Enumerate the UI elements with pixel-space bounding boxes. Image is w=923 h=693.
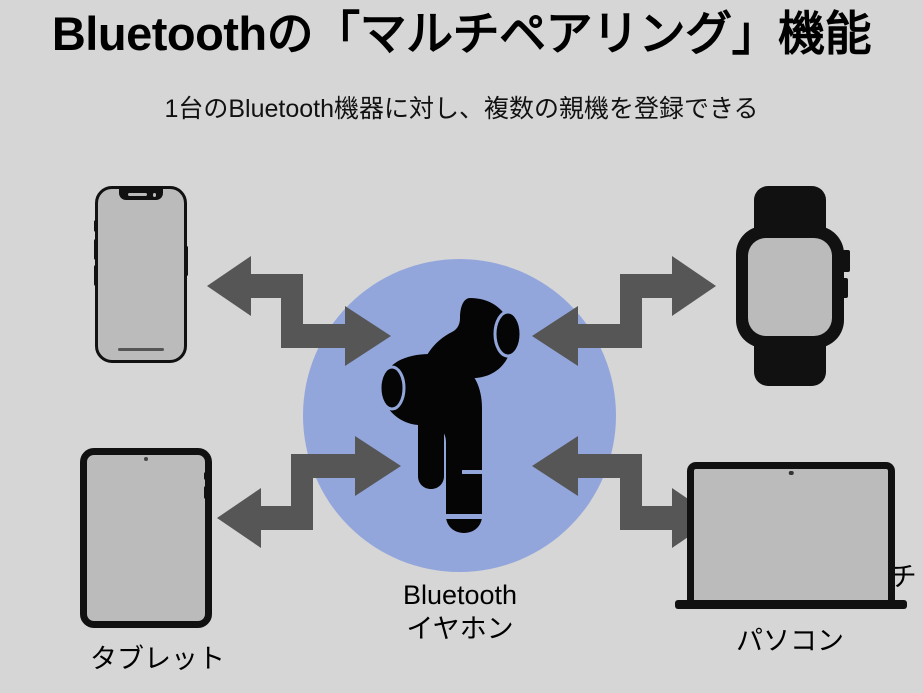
laptop-icon (687, 462, 895, 602)
laptop-camera-dot (789, 471, 794, 476)
tablet-icon (80, 448, 212, 628)
device-smartphone[interactable]: スマホ (60, 186, 260, 416)
smartphone-power-button (185, 246, 189, 276)
smartwatch-crown (842, 250, 850, 272)
smartwatch-icon (736, 226, 844, 348)
smartwatch-screen (748, 238, 832, 336)
smartwatch-side-button (842, 278, 848, 298)
infographic-canvas: Bluetoothの「マルチペアリング」機能 1台のBluetooth機器に対し… (0, 0, 923, 693)
tablet-power-button (204, 472, 208, 480)
smartphone-notch (119, 189, 163, 200)
hub-label: Bluetooth イヤホン (310, 578, 610, 647)
smartphone-volume-up-button (94, 239, 98, 260)
device-tablet[interactable]: タブレット (50, 448, 265, 688)
hub-label-line1: Bluetooth (310, 578, 610, 612)
smartphone-volume-down-button (94, 265, 98, 286)
hub-label-line2: イヤホン (310, 612, 610, 646)
laptop-base (675, 600, 907, 609)
device-smartwatch[interactable]: スマートウォッチ (700, 186, 918, 416)
device-label-laptop: パソコン (665, 626, 915, 657)
page-subtitle: 1台のBluetooth機器に対し、複数の親機を登録できる (0, 94, 923, 124)
tablet-camera-dot (144, 457, 148, 461)
smartphone-camera-dot (153, 193, 157, 197)
device-label-tablet: タブレット (50, 644, 265, 675)
page-title: Bluetoothの「マルチペアリング」機能 (0, 8, 923, 61)
device-laptop[interactable]: パソコン (665, 462, 915, 692)
tablet-volume-button (204, 486, 208, 499)
smartphone-speaker-slit (128, 193, 147, 196)
smartphone-home-indicator (118, 348, 164, 352)
smartphone-mute-button (94, 220, 98, 232)
arrow-top-right (528, 248, 718, 368)
smartphone-icon (95, 186, 187, 363)
